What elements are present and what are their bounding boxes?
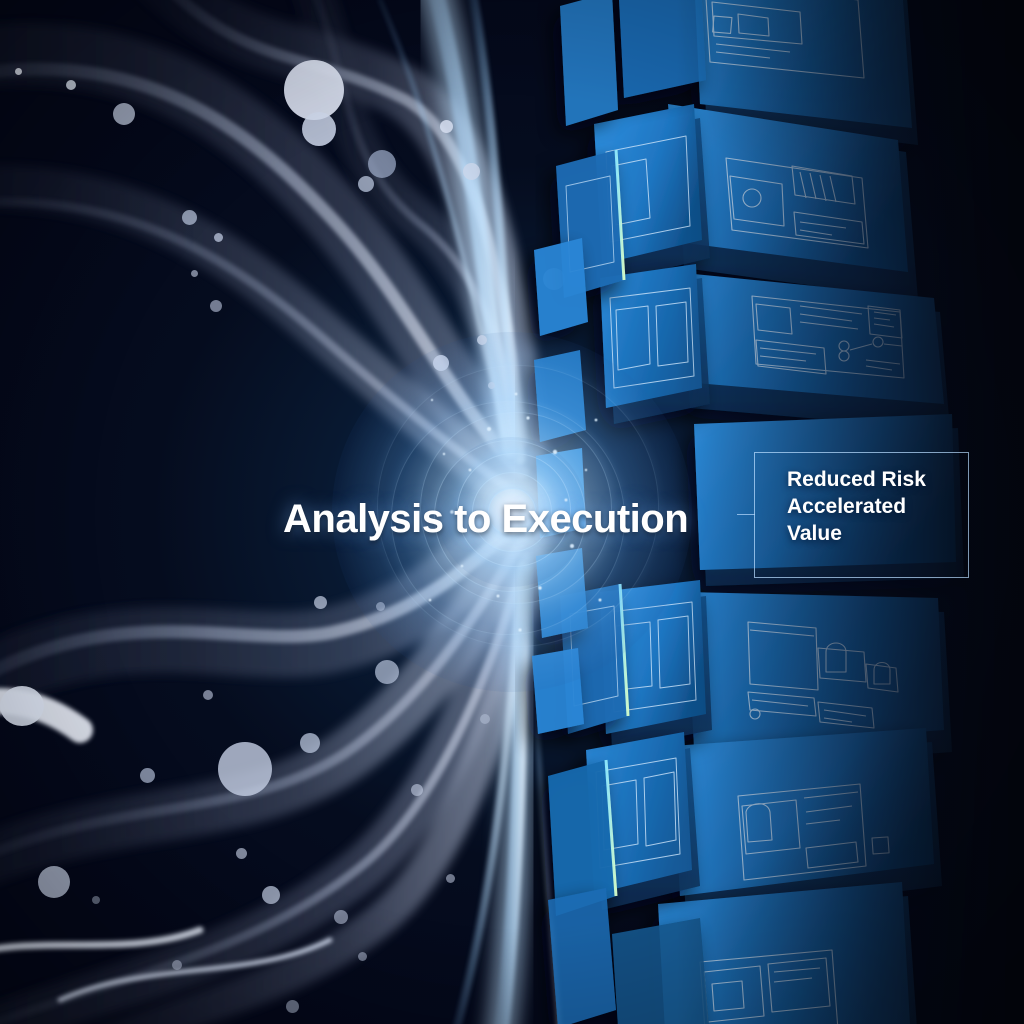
page-title: Analysis to Execution — [283, 497, 688, 542]
callout-line-2: Accelerated — [787, 493, 977, 520]
hero-banner: Analysis to Execution Reduced Risk Accel… — [0, 0, 1024, 1024]
callout-text-block: Reduced Risk Accelerated Value — [787, 466, 977, 547]
callout-connector-line — [737, 514, 755, 515]
callout-line-1: Reduced Risk — [787, 466, 977, 493]
callout-line-3: Value — [787, 520, 977, 547]
